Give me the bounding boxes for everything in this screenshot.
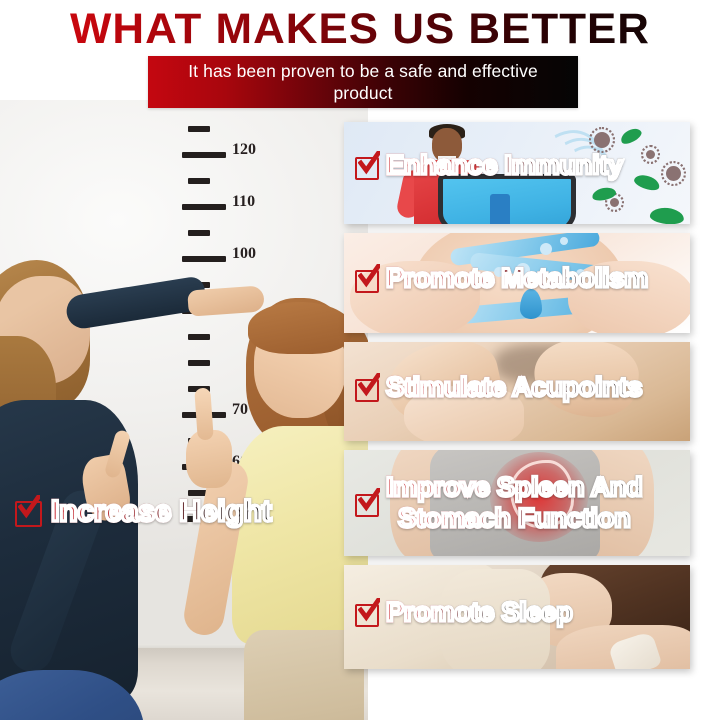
- ruler-label: 110: [232, 199, 255, 205]
- ruler-tick: [188, 178, 210, 184]
- ruler-tick: [188, 360, 210, 366]
- card-label-sleep: Promote Sleep: [354, 597, 572, 628]
- card-text-line1: Improve Spleen And: [386, 472, 642, 503]
- virus-icon: [646, 150, 655, 159]
- card-text: Stimulate Acupoints: [386, 372, 642, 403]
- ruler-label: 70: [232, 407, 248, 413]
- checkmark-glyph: [358, 373, 380, 397]
- benefit-card-spleen[interactable]: Improve Spleen And Stomach Function: [344, 450, 690, 556]
- bacteria-icon: [649, 206, 684, 224]
- infographic-page: 120 110 100 90 70 60 5: [0, 0, 720, 720]
- virus-icon: [610, 198, 619, 207]
- increase-height-label: Increase Height: [14, 495, 271, 529]
- bacteria-icon: [618, 126, 643, 147]
- ruler-tick: [182, 152, 226, 158]
- red-checkbox-icon: [354, 601, 380, 625]
- benefit-card-immunity[interactable]: Enhance Immunity: [344, 122, 690, 224]
- card-text: Enhance Immunity: [386, 150, 623, 181]
- red-checkbox-icon: [354, 267, 380, 291]
- red-checkbox-icon: [354, 376, 380, 400]
- benefit-card-metabolism[interactable]: Promote Metabolism: [344, 233, 690, 333]
- ruler-tick: [182, 204, 226, 210]
- checkmark-glyph: [358, 598, 380, 622]
- height-chart-photo: 120 110 100 90 70 60 5: [0, 100, 368, 720]
- red-checkbox-icon: [14, 498, 44, 526]
- increase-height-text: Increase Height: [51, 495, 271, 529]
- ruler-tick: [188, 334, 210, 340]
- red-checkbox-icon: [354, 491, 380, 515]
- card-label-spleen: Improve Spleen And Stomach Function: [354, 472, 642, 534]
- ruler-tick: [188, 230, 210, 236]
- checkmark-glyph: [358, 151, 380, 175]
- header: WHAT MAKES US BETTER It has been proven …: [0, 0, 720, 118]
- ruler-tick: [188, 126, 210, 132]
- benefit-card-sleep[interactable]: Promote Sleep: [344, 565, 690, 669]
- card-text: Promote Metabolism: [386, 263, 648, 294]
- checkmark-glyph: [358, 264, 380, 288]
- benefit-card-list: Enhance Immunity: [344, 122, 692, 678]
- card-label-acupoints: Stimulate Acupoints: [354, 372, 642, 403]
- card-label-immunity: Enhance Immunity: [354, 150, 623, 181]
- red-checkbox-icon: [354, 154, 380, 178]
- bacteria-icon: [633, 172, 662, 192]
- card-text-line2: Stomach Function: [398, 503, 630, 534]
- checkmark-glyph: [358, 488, 380, 512]
- subtitle-banner: It has been proven to be a safe and effe…: [148, 56, 578, 108]
- ruler-label: 100: [232, 251, 256, 257]
- subtitle-text: It has been proven to be a safe and effe…: [148, 60, 578, 104]
- girl-bangs: [248, 302, 352, 354]
- card-text: Promote Sleep: [386, 597, 572, 628]
- page-title: WHAT MAKES US BETTER: [0, 6, 720, 52]
- checkmark-glyph: [18, 495, 40, 519]
- ruler-label: 120: [232, 147, 256, 153]
- virus-icon: [594, 132, 610, 148]
- ruler-tick: [182, 256, 226, 262]
- mother-hand: [187, 285, 265, 316]
- virus-icon: [666, 166, 681, 181]
- benefit-card-acupoints[interactable]: Stimulate Acupoints: [344, 342, 690, 441]
- card-text-block: Improve Spleen And Stomach Function: [386, 472, 642, 534]
- card-label-metabolism: Promote Metabolism: [354, 263, 648, 294]
